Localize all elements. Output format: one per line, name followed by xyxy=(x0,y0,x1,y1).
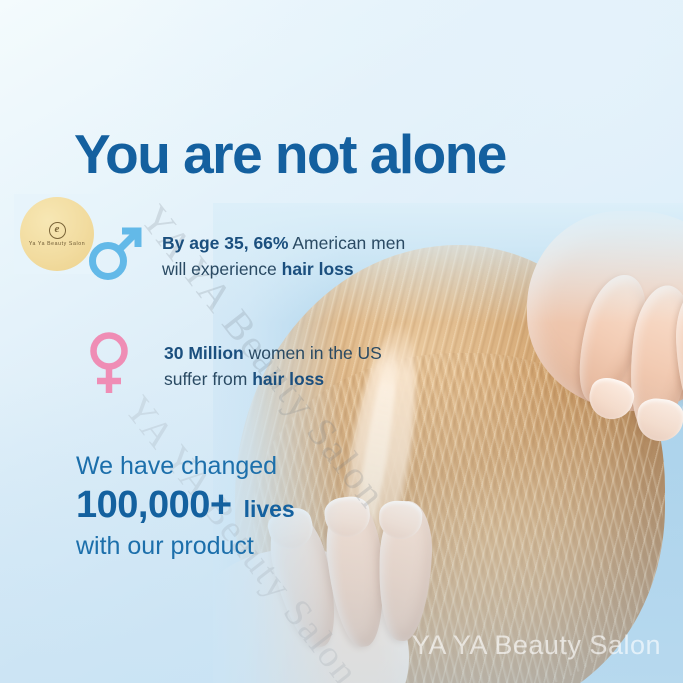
lives-count: 100,000+ xyxy=(76,484,232,527)
male-gender-icon xyxy=(84,222,146,289)
stat-female-line1-bold: 30 Million xyxy=(164,343,244,363)
stat-male-text: By age 35, 66% American men will experie… xyxy=(162,230,405,282)
stat-male-line1-rest: American men xyxy=(288,233,405,253)
page-title: You are not alone xyxy=(74,122,506,186)
logo-monogram-icon: e xyxy=(49,222,66,239)
lives-line-2: 100,000+ lives xyxy=(76,484,295,527)
stat-male-line1-bold: By age 35, 66% xyxy=(162,233,288,253)
stat-row-male: By age 35, 66% American men will experie… xyxy=(84,222,405,289)
logo-circle: e Ya Ya Beauty Salon xyxy=(20,197,94,271)
lives-unit-label: lives xyxy=(244,496,295,523)
stat-female-text: 30 Million women in the US suffer from h… xyxy=(164,340,382,392)
stat-female-line2-rest: suffer from xyxy=(164,369,252,389)
logo-caption: Ya Ya Beauty Salon xyxy=(29,241,85,247)
right-hand-fingernail xyxy=(635,396,683,443)
stat-female-line2-bold: hair loss xyxy=(252,369,324,389)
stat-female-line1-rest: women in the US xyxy=(244,343,382,363)
stat-male-line2-bold: hair loss xyxy=(282,259,354,279)
right-hand xyxy=(467,211,683,461)
lives-line-1: We have changed xyxy=(76,450,295,483)
female-gender-icon xyxy=(84,330,134,401)
stat-male-line2-rest: will experience xyxy=(162,259,282,279)
lives-changed-block: We have changed 100,000+ lives with our … xyxy=(76,450,295,563)
lives-line-3: with our product xyxy=(76,529,295,563)
stat-row-female: 30 Million women in the US suffer from h… xyxy=(84,330,382,401)
hair-loss-promo-poster: YA YA Beauty Salon YA YA Beauty Salon YA… xyxy=(0,0,683,683)
